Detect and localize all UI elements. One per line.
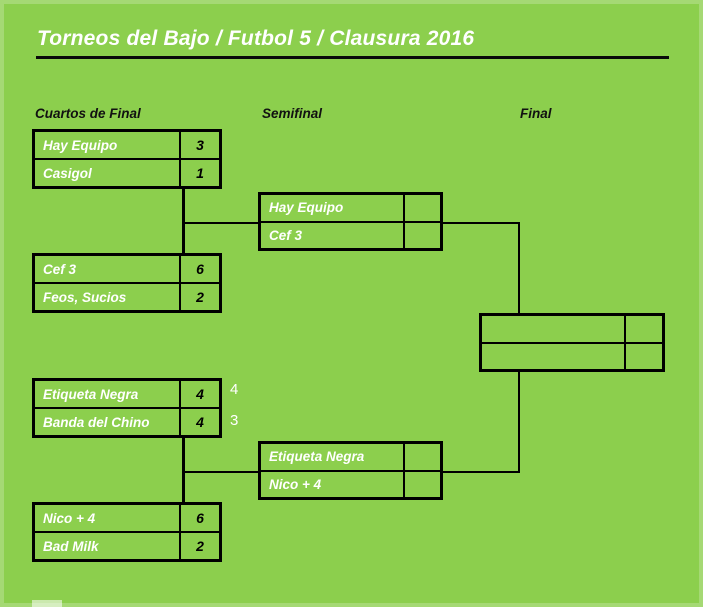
match-semifinal-2[interactable]: Etiqueta Negra Nico + 4	[258, 441, 443, 500]
match-row[interactable]: Hay Equipo 3	[35, 132, 219, 160]
connector-qf3-stub	[182, 438, 185, 471]
match-row[interactable]: Hay Equipo	[261, 195, 440, 223]
team-name: Cef 3	[261, 223, 403, 249]
match-row[interactable]: Nico + 4 6	[35, 505, 219, 533]
bottom-left-marker	[32, 600, 62, 607]
connector-qf2-stub	[182, 222, 185, 255]
team-score	[403, 195, 440, 221]
match-semifinal-1[interactable]: Hay Equipo Cef 3	[258, 192, 443, 251]
team-name: Nico + 4	[35, 505, 179, 531]
match-quarterfinal-4[interactable]: Nico + 4 6 Bad Milk 2	[32, 502, 222, 562]
team-score	[624, 316, 662, 342]
team-score: 6	[179, 505, 219, 531]
team-name: Etiqueta Negra	[35, 381, 179, 407]
team-score: 2	[179, 533, 219, 559]
team-name: Casigol	[35, 160, 179, 186]
team-score	[403, 444, 440, 470]
bracket-canvas: Torneos del Bajo / Futbol 5 / Clausura 2…	[0, 0, 703, 607]
team-score: 4	[179, 409, 219, 435]
connector-sf1-horiz	[182, 222, 260, 224]
connector-qf1-stub	[182, 189, 185, 222]
team-name: Etiqueta Negra	[261, 444, 403, 470]
penalty-score-top: 4	[230, 381, 238, 398]
match-row[interactable]: Casigol 1	[35, 160, 219, 186]
team-name: Hay Equipo	[35, 132, 179, 158]
team-name: Bad Milk	[35, 533, 179, 559]
team-score: 6	[179, 256, 219, 282]
match-row[interactable]: Etiqueta Negra 4	[35, 381, 219, 409]
match-row[interactable]: Nico + 4	[261, 472, 440, 498]
match-row[interactable]: Bad Milk 2	[35, 533, 219, 559]
connector-final-vert-bottom	[518, 371, 520, 472]
team-score	[624, 344, 662, 370]
round-header-semifinal: Semifinal	[262, 106, 322, 121]
round-header-final: Final	[520, 106, 552, 121]
page-title: Torneos del Bajo / Futbol 5 / Clausura 2…	[37, 27, 474, 51]
match-quarterfinal-1[interactable]: Hay Equipo 3 Casigol 1	[32, 129, 222, 189]
match-quarterfinal-2[interactable]: Cef 3 6 Feos, Sucios 2	[32, 253, 222, 313]
connector-sf2-vert	[182, 471, 185, 504]
title-underline-rule	[36, 56, 669, 59]
match-quarterfinal-3[interactable]: Etiqueta Negra 4 Banda del Chino 4	[32, 378, 222, 438]
match-row[interactable]: Banda del Chino 4	[35, 409, 219, 435]
match-final[interactable]	[479, 313, 665, 372]
team-score	[403, 223, 440, 249]
team-score: 2	[179, 284, 219, 310]
team-name	[482, 344, 624, 370]
team-name	[482, 316, 624, 342]
match-row[interactable]: Etiqueta Negra	[261, 444, 440, 472]
connector-final-horiz-top	[441, 222, 520, 224]
penalty-score-bottom: 3	[230, 412, 238, 429]
team-score: 3	[179, 132, 219, 158]
team-name: Feos, Sucios	[35, 284, 179, 310]
team-score: 1	[179, 160, 219, 186]
connector-final-vert-top	[518, 222, 520, 314]
match-row[interactable]: Cef 3 6	[35, 256, 219, 284]
match-row[interactable]: Feos, Sucios 2	[35, 284, 219, 310]
team-name: Nico + 4	[261, 472, 403, 498]
round-header-quarterfinals: Cuartos de Final	[35, 106, 141, 121]
match-row[interactable]: Cef 3	[261, 223, 440, 249]
connector-sf2-horiz	[182, 471, 260, 473]
match-row[interactable]	[482, 344, 662, 370]
match-row[interactable]	[482, 316, 662, 344]
team-name: Hay Equipo	[261, 195, 403, 221]
connector-final-horiz-bottom	[441, 471, 520, 473]
team-name: Banda del Chino	[35, 409, 179, 435]
team-score: 4	[179, 381, 219, 407]
team-name: Cef 3	[35, 256, 179, 282]
team-score	[403, 472, 440, 498]
